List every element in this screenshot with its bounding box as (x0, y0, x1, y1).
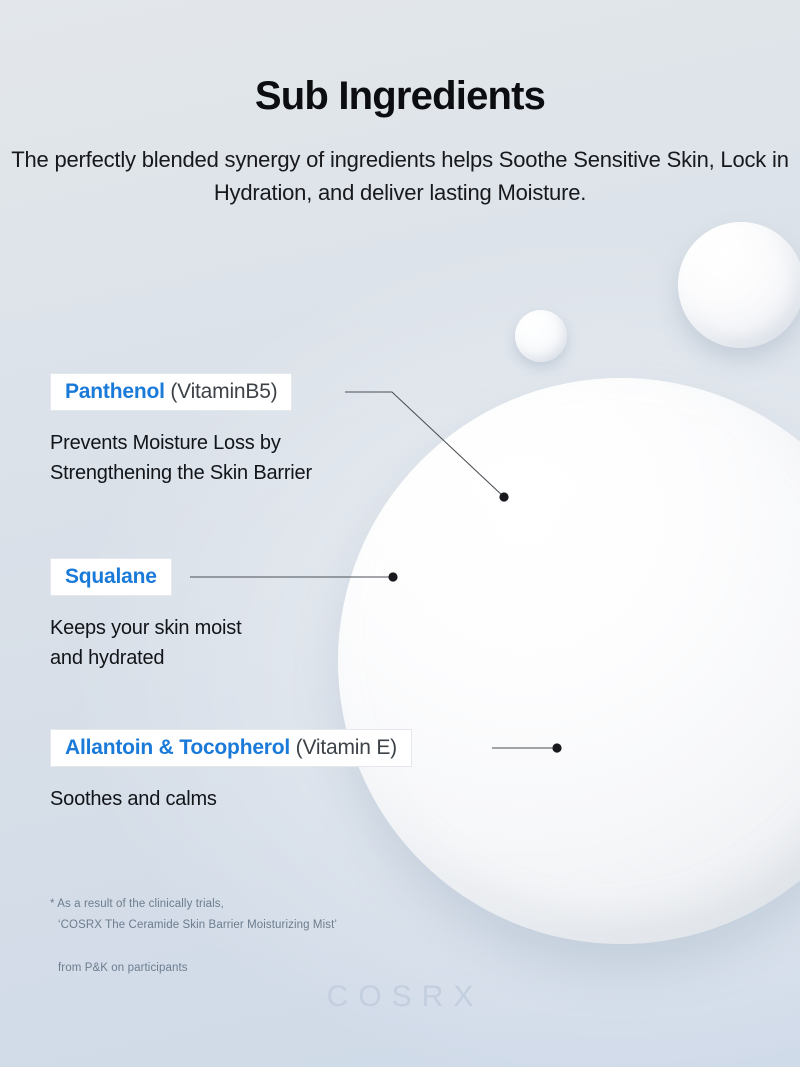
page-header: Sub Ingredients The perfectly blended sy… (0, 0, 800, 210)
ingredient-description-panthenol: Prevents Moisture Loss by Strengthening … (50, 411, 312, 489)
large-cream-droplet (338, 378, 800, 944)
page-subtitle: The perfectly blended synergy of ingredi… (0, 119, 800, 210)
connector-dot-allantoin-tocopherol (552, 743, 561, 752)
medium-cream-droplet (678, 222, 800, 348)
ingredient-name-panthenol: Panthenol (65, 380, 165, 403)
ingredient-alias-allantoin-tocopherol: (Vitamin E) (290, 736, 397, 759)
connector-line-panthenol (345, 392, 504, 497)
ingredient-panthenol: Panthenol (VitaminB5) Prevents Moisture … (50, 373, 312, 489)
connector-dot-squalane (388, 572, 397, 581)
ingredient-label-chip-squalane: Squalane (50, 558, 172, 596)
ingredient-name-squalane: Squalane (65, 565, 157, 588)
small-cream-droplet (515, 310, 567, 362)
ingredient-label-chip-allantoin-tocopherol: Allantoin & Tocopherol (Vitamin E) (50, 729, 412, 767)
connector-dot-panthenol (499, 492, 508, 501)
ingredient-alias-panthenol: (VitaminB5) (165, 380, 278, 403)
footnote-line-1: * As a result of the clinically trials, (50, 898, 224, 910)
sub-ingredients-page: Sub Ingredients The perfectly blended sy… (0, 0, 800, 1067)
cosrx-logo: COSRX (0, 980, 800, 1014)
ingredient-allantoin-tocopherol: Allantoin & Tocopherol (Vitamin E) Sooth… (50, 729, 412, 814)
ingredient-label-chip-panthenol: Panthenol (VitaminB5) (50, 373, 292, 411)
ingredient-squalane: Squalane Keeps your skin moist and hydra… (50, 558, 241, 674)
footnote-line-3: from P&K on participants (50, 958, 337, 980)
footnote-line-2: ‘COSRX The Ceramide Skin Barrier Moistur… (50, 915, 337, 937)
page-title: Sub Ingredients (0, 0, 800, 119)
ingredient-description-squalane: Keeps your skin moist and hydrated (50, 596, 241, 674)
ingredient-description-allantoin-tocopherol: Soothes and calms (50, 767, 412, 814)
ingredient-name-allantoin-tocopherol: Allantoin & Tocopherol (65, 736, 290, 759)
